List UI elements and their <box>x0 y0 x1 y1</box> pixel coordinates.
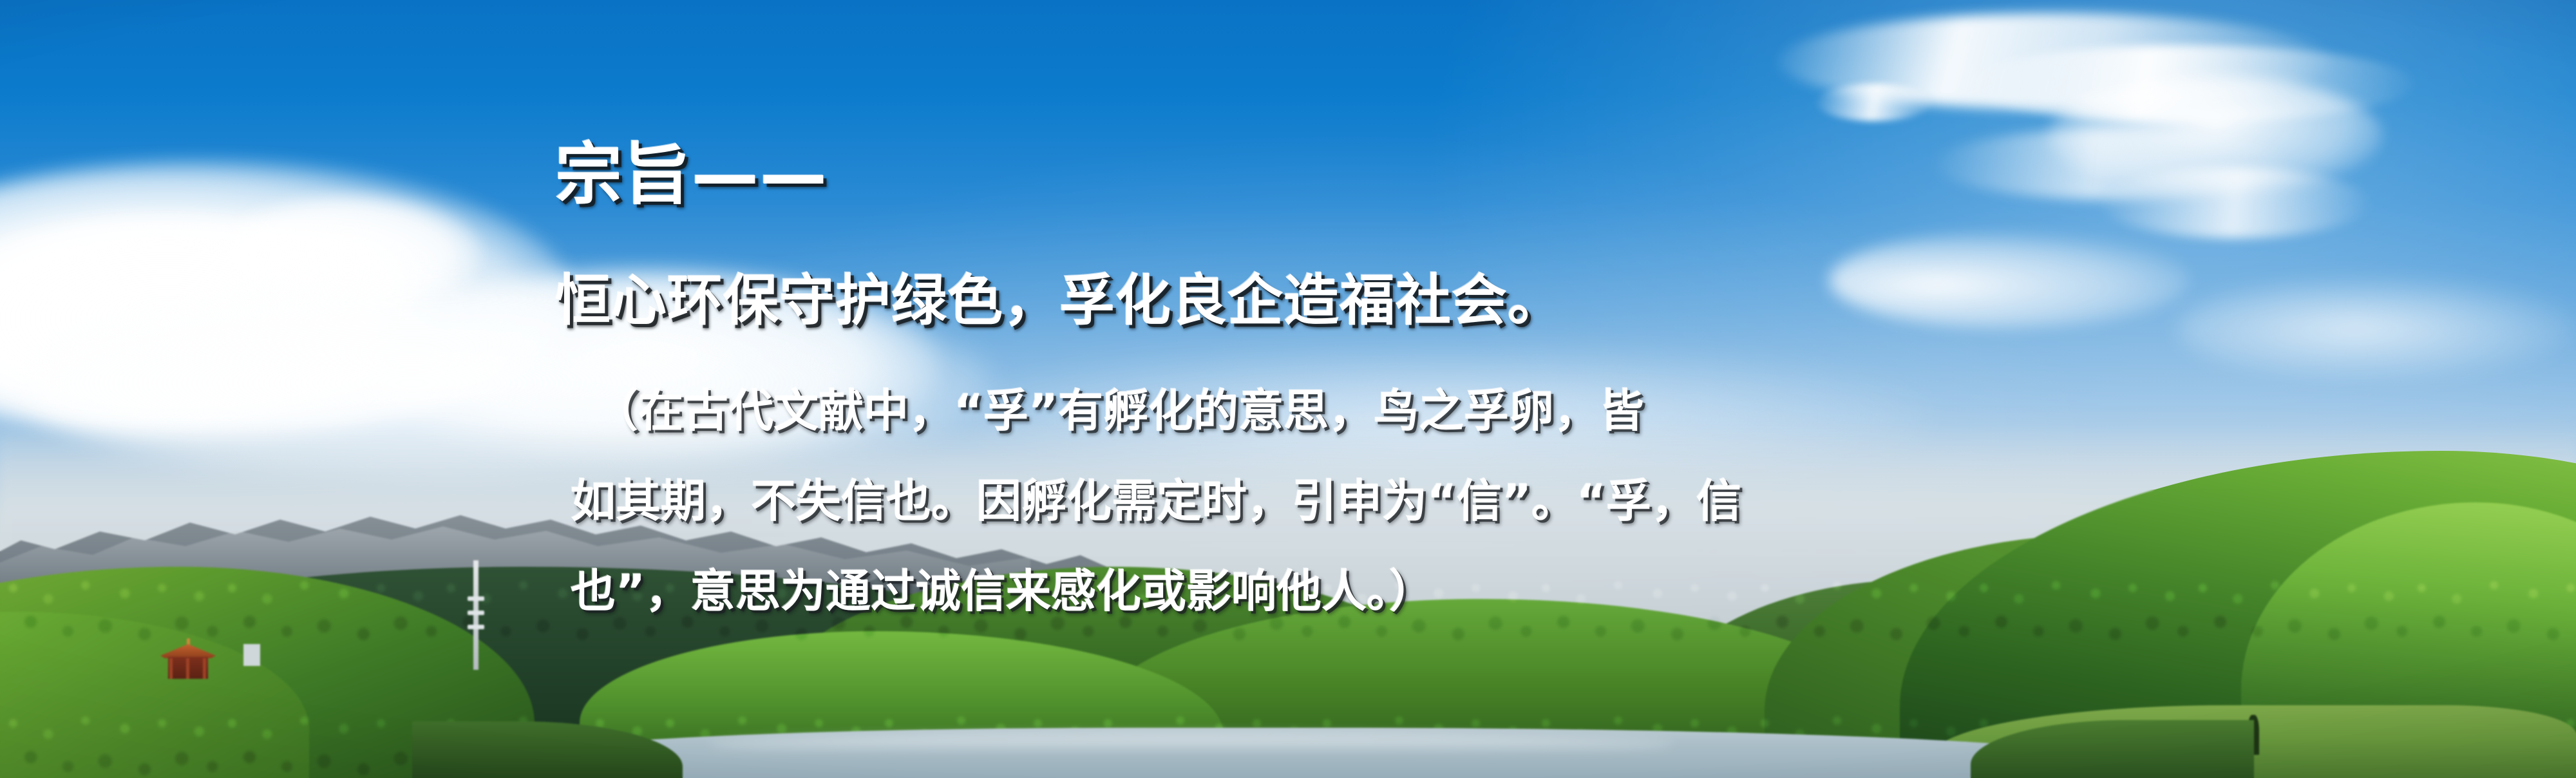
text-overlay: 宗旨—— 恒心环保守护绿色，孚化良企造福社会。 （在古代文献中，“孚”有孵化的意… <box>0 0 2576 778</box>
mission-slogan: 恒心环保守护绿色，孚化良企造福社会。 <box>555 270 1564 332</box>
explanation-line-1: （在古代文献中，“孚”有孵化的意思，鸟之孚卵，皆 <box>571 386 1644 436</box>
page-title: 宗旨—— <box>555 138 828 211</box>
explanation-line-3: 也”，意思为通过诚信来感化或影响他人。） <box>571 567 1434 616</box>
mission-banner: 宗旨—— 恒心环保守护绿色，孚化良企造福社会。 （在古代文献中，“孚”有孵化的意… <box>0 0 2576 778</box>
explanation-line-2: 如其期，不失信也。因孵化需定时，引申为“信”。“孚，信 <box>571 477 1741 526</box>
